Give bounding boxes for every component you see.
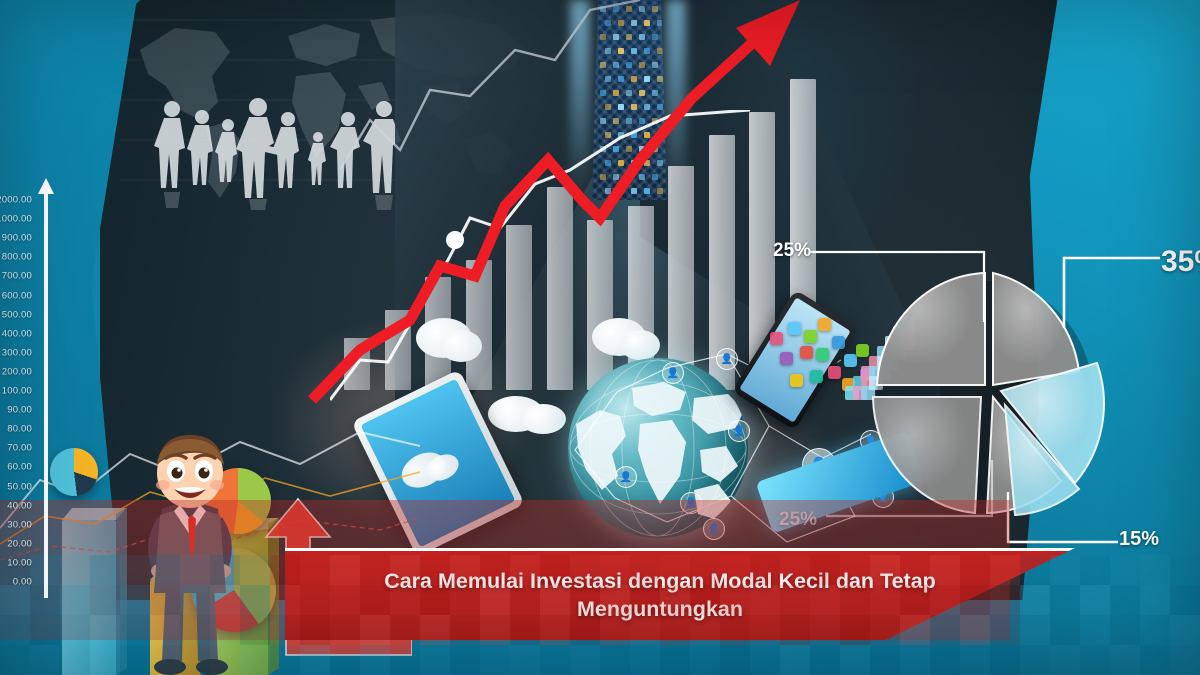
tie-pattern-dot (605, 48, 611, 54)
y-axis-tick: 80.00 (7, 424, 32, 435)
y-axis-tick: 50.00 (7, 481, 32, 492)
cloud-2b (620, 330, 660, 360)
center-bar (466, 260, 492, 390)
network-globe (568, 358, 748, 538)
network-node-7: 👤 (615, 466, 637, 488)
app-icon (780, 352, 793, 365)
pie-slice-gray-top-right (993, 273, 1079, 385)
pie-slice-25-bottom-left (873, 397, 981, 513)
network-node-2: 👤 (716, 348, 738, 370)
y-axis-tick: 800.00 (2, 252, 32, 263)
network-node-6: 👤 (680, 492, 702, 514)
tie-pattern-dot (652, 34, 658, 40)
tie-pattern-dot (600, 6, 606, 12)
y-axis-tick: 600.00 (2, 290, 32, 301)
y-axis-tick: 10.00 (7, 557, 32, 568)
tie-pattern-dot (613, 34, 619, 40)
tie-pattern-dot (626, 34, 632, 40)
tie-pattern-dot (652, 6, 658, 12)
y-axis-tick: 70.00 (7, 443, 32, 454)
pie-chart (865, 245, 1120, 520)
app-icon (832, 336, 845, 349)
tie-pattern-dot (618, 48, 624, 54)
y-axis-tick: 400.00 (2, 328, 32, 339)
network-node-3: 👤 (728, 420, 750, 442)
app-icon (770, 332, 783, 345)
center-bar (506, 225, 532, 390)
app-icon (810, 370, 823, 383)
network-node-1: 👤 (662, 362, 684, 384)
app-icon (788, 322, 801, 335)
y-axis-line (44, 192, 48, 598)
pie-label-15: 15% (1119, 528, 1159, 551)
app-icon (790, 374, 803, 387)
pie-label-25-bottom: 25% (779, 509, 817, 531)
pie-label-25-top: 25% (773, 240, 811, 262)
y-axis-tick: 0.00 (13, 577, 32, 588)
tie-pattern-dot (639, 6, 645, 12)
tie-pattern-dot (631, 20, 637, 26)
app-icon (804, 330, 817, 343)
y-axis: 2000.001000.00900.00800.00700.00600.0050… (38, 178, 54, 598)
app-icon (818, 318, 831, 331)
y-axis-tick: 100.00 (2, 386, 32, 397)
tie-pattern-dot (600, 34, 606, 40)
tie-pattern-dot (639, 34, 645, 40)
center-bar (385, 310, 411, 390)
tie-pattern-dot (618, 20, 624, 26)
pie-label-35: 35% (1161, 245, 1200, 279)
y-axis-tick: 500.00 (2, 309, 32, 320)
banner-title-text: Cara Memulai Investasi dengan Modal Keci… (330, 568, 990, 624)
network-node-8: 👤 (703, 518, 725, 540)
tie-pattern-dot (631, 48, 637, 54)
y-axis-tick: 900.00 (2, 233, 32, 244)
y-axis-tick: 700.00 (2, 271, 32, 282)
tie-pattern-dot (644, 48, 650, 54)
tie-pattern-dot (605, 20, 611, 26)
center-bar (668, 166, 694, 390)
center-bar-chart (330, 60, 830, 390)
businessman-mascot (100, 425, 280, 675)
y-axis-tick: 30.00 (7, 519, 32, 530)
y-axis-tick: 40.00 (7, 500, 32, 511)
center-bar (344, 338, 370, 390)
y-axis-tick: 60.00 (7, 462, 32, 473)
y-axis-tick: 1000.00 (0, 214, 32, 225)
y-axis-tick: 90.00 (7, 405, 32, 416)
cloud-1b (440, 330, 482, 362)
tie-pattern-dot (644, 20, 650, 26)
y-axis-tick: 200.00 (2, 366, 32, 377)
y-axis-tick: 20.00 (7, 538, 32, 549)
y-axis-tick: 2000.00 (0, 195, 32, 206)
mini-pie-chart-1 (50, 448, 98, 496)
app-icon (800, 346, 813, 359)
tie-pattern-dot (626, 6, 632, 12)
pie-slice-25-top-left (877, 273, 985, 385)
tie-pattern-dot (613, 6, 619, 12)
cloud-3b (520, 404, 566, 434)
app-icon (816, 348, 829, 361)
infographic-canvas: 👤 👤 👤 👤 👤 👤 👤 👤 👤 (0, 0, 1200, 675)
tie-pattern-dot (657, 48, 663, 54)
y-axis-tick: 300.00 (2, 347, 32, 358)
app-icon (828, 366, 841, 379)
